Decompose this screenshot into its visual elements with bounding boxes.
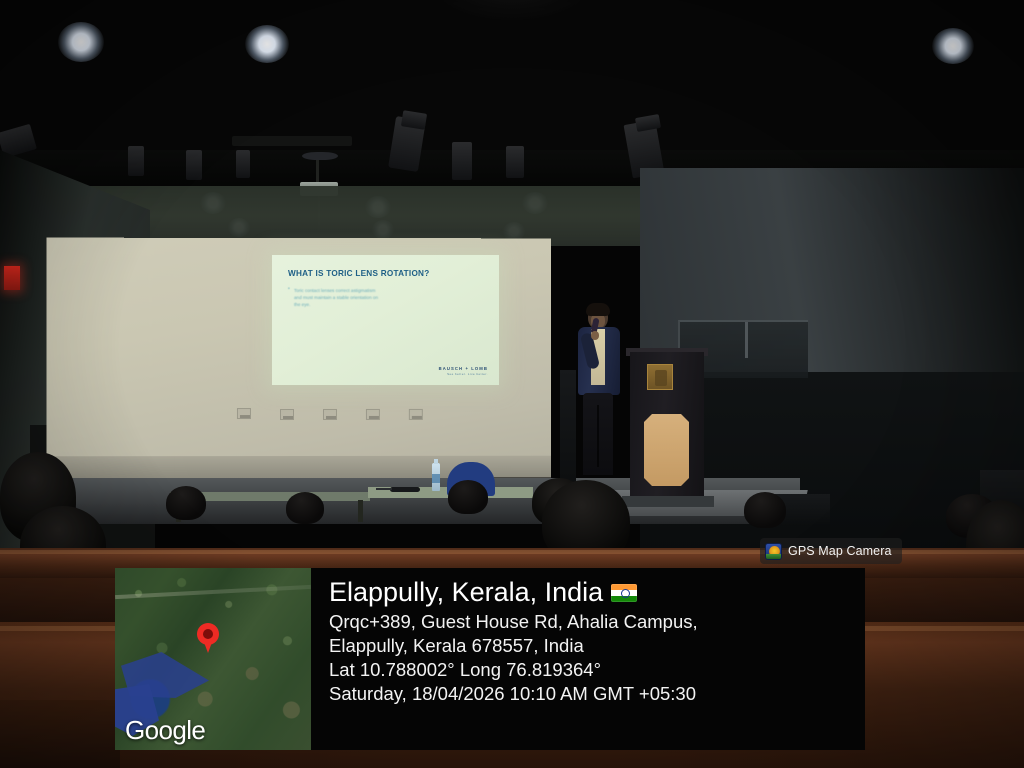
gps-address-line-1: Qrqc+389, Guest House Rd, Ahalia Campus, — [329, 610, 865, 634]
audience-head — [166, 486, 206, 520]
presenter — [575, 305, 621, 475]
wall-socket — [280, 409, 294, 420]
presenter-hand — [591, 331, 599, 340]
presentation-slide: WHAT IS TORIC LENS ROTATION? Toric conta… — [272, 255, 499, 385]
gps-map-camera-watermark: GPS Map Camera — [760, 538, 902, 564]
gps-place-title: Elappully, Kerala, India — [329, 578, 603, 607]
gps-map-thumbnail[interactable]: Google — [115, 568, 311, 750]
wall-socket — [323, 409, 337, 420]
projector-pole — [316, 160, 319, 184]
projector-mount — [302, 152, 338, 160]
audience-head — [448, 480, 488, 514]
podium-emblem — [647, 364, 673, 390]
google-attribution-label: Google — [125, 715, 205, 746]
gps-stamp-bar: Google Elappully, Kerala, India Qrqc+389… — [0, 568, 1024, 768]
stage-light-fixture — [236, 150, 250, 178]
gps-detail-lines: Qrqc+389, Guest House Rd, Ahalia Campus,… — [329, 610, 865, 706]
stage-light-fixture — [452, 142, 472, 180]
slide-brand-logo: BAUSCH + LOMB See better. Live better. — [439, 366, 488, 376]
ceiling-downlight — [58, 22, 104, 62]
podium-base — [622, 496, 714, 507]
gps-place-title-row: Elappully, Kerala, India — [329, 578, 865, 607]
gps-map-camera-app-icon — [765, 543, 782, 560]
presenter-hair — [586, 303, 610, 316]
audience-head — [744, 492, 786, 528]
ceiling-downlight — [932, 28, 974, 64]
photo-canvas: WHAT IS TORIC LENS ROTATION? Toric conta… — [0, 0, 1024, 768]
gps-datetime: Saturday, 18/04/2026 10:10 AM GMT +05:30 — [329, 682, 865, 706]
water-bottle — [432, 463, 440, 491]
table-leg — [358, 500, 363, 522]
audience-head — [286, 492, 324, 524]
exit-sign — [4, 266, 20, 290]
gps-coordinates: Lat 10.788002° Long 76.819364° — [329, 658, 865, 682]
india-flag-icon — [611, 584, 637, 602]
bottle-label — [432, 474, 440, 483]
table-microphone — [390, 487, 420, 492]
presenter-leg-split — [597, 405, 599, 467]
ceiling-duct — [232, 136, 352, 146]
slide-title: WHAT IS TORIC LENS ROTATION? — [288, 269, 483, 278]
slide-brand-name: BAUSCH + LOMB — [439, 366, 488, 371]
stage-light-fixture — [128, 146, 144, 176]
ceiling-downlight — [245, 25, 289, 63]
slide-bullet-text: Toric contact lenses correct astigmatism… — [288, 287, 380, 308]
gps-address-line-2: Elappully, Kerala 678557, India — [329, 634, 865, 658]
podium-front-panel — [644, 414, 689, 486]
stage-light-fixture — [186, 150, 202, 180]
gps-info-panel: Elappully, Kerala, India Qrqc+389, Guest… — [311, 568, 865, 750]
watermark-label: GPS Map Camera — [788, 544, 892, 558]
door-mullion — [745, 322, 748, 358]
stage-light-fixture — [506, 146, 524, 178]
podium — [630, 352, 704, 500]
slide-brand-tagline: See better. Live better. — [439, 372, 488, 376]
map-pin-icon — [197, 623, 219, 653]
wall-socket — [366, 409, 380, 420]
wall-socket — [409, 409, 423, 420]
wall-socket — [237, 408, 251, 419]
